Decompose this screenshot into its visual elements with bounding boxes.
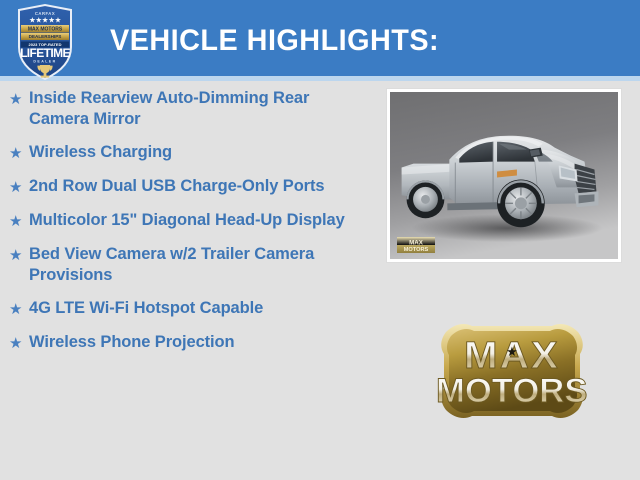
svg-text:DEALER: DEALER [33,60,56,64]
header-underline [0,76,640,81]
star-bullet-icon: ★ [9,332,29,354]
list-item-label: Multicolor 15" Diagonal Head-Up Display [29,210,372,231]
star-bullet-icon: ★ [9,298,29,320]
list-item-label: Wireless Charging [29,142,372,163]
star-bullet-icon: ★ [9,176,29,198]
list-item: ★ Wireless Charging [0,142,372,164]
svg-text:★★★★★: ★★★★★ [29,16,62,25]
list-item: ★ 4G LTE Wi-Fi Hotspot Capable [0,298,372,320]
star-bullet-icon: ★ [9,142,29,164]
svg-text:★: ★ [506,345,518,360]
svg-text:MOTORS: MOTORS [436,372,588,410]
vehicle-photo-image: MAX MOTORS [390,92,618,259]
list-item-label: Wireless Phone Projection [29,332,372,353]
list-item: ★ Inside Rearview Auto-Dimming Rear Came… [0,88,372,130]
star-bullet-icon: ★ [9,210,29,232]
list-item-label: 2nd Row Dual USB Charge-Only Ports [29,176,372,197]
svg-text:DEALERSHIPS: DEALERSHIPS [29,34,62,39]
svg-text:MOTORS: MOTORS [404,247,429,253]
svg-text:MAX MOTORS: MAX MOTORS [28,26,63,32]
svg-text:LIFETIME: LIFETIME [20,46,70,60]
carfax-lifetime-dealer-badge: CARFAX ★★★★★ MAX MOTORS DEALERSHIPS 2023… [13,3,77,81]
list-item: ★ Wireless Phone Projection [0,332,372,354]
list-item: ★ 2nd Row Dual USB Charge-Only Ports [0,176,372,198]
svg-text:MAX: MAX [409,240,424,247]
list-item-label: Bed View Camera w/2 Trailer Camera Provi… [29,244,372,286]
page-title: VEHICLE HIGHLIGHTS: [110,24,439,58]
list-item-label: Inside Rearview Auto-Dimming Rear Camera… [29,88,372,130]
vehicle-photo[interactable]: MAX MOTORS [386,88,622,263]
max-motors-logo: MAX ★ MOTORS [424,310,600,432]
photo-watermark: MAX MOTORS [394,234,438,256]
list-item: ★ Bed View Camera w/2 Trailer Camera Pro… [0,244,372,286]
star-bullet-icon: ★ [9,88,29,110]
list-item-label: 4G LTE Wi-Fi Hotspot Capable [29,298,372,319]
vehicle-highlights-list: ★ Inside Rearview Auto-Dimming Rear Came… [0,88,372,366]
list-item: ★ Multicolor 15" Diagonal Head-Up Displa… [0,210,372,232]
star-bullet-icon: ★ [9,244,29,266]
